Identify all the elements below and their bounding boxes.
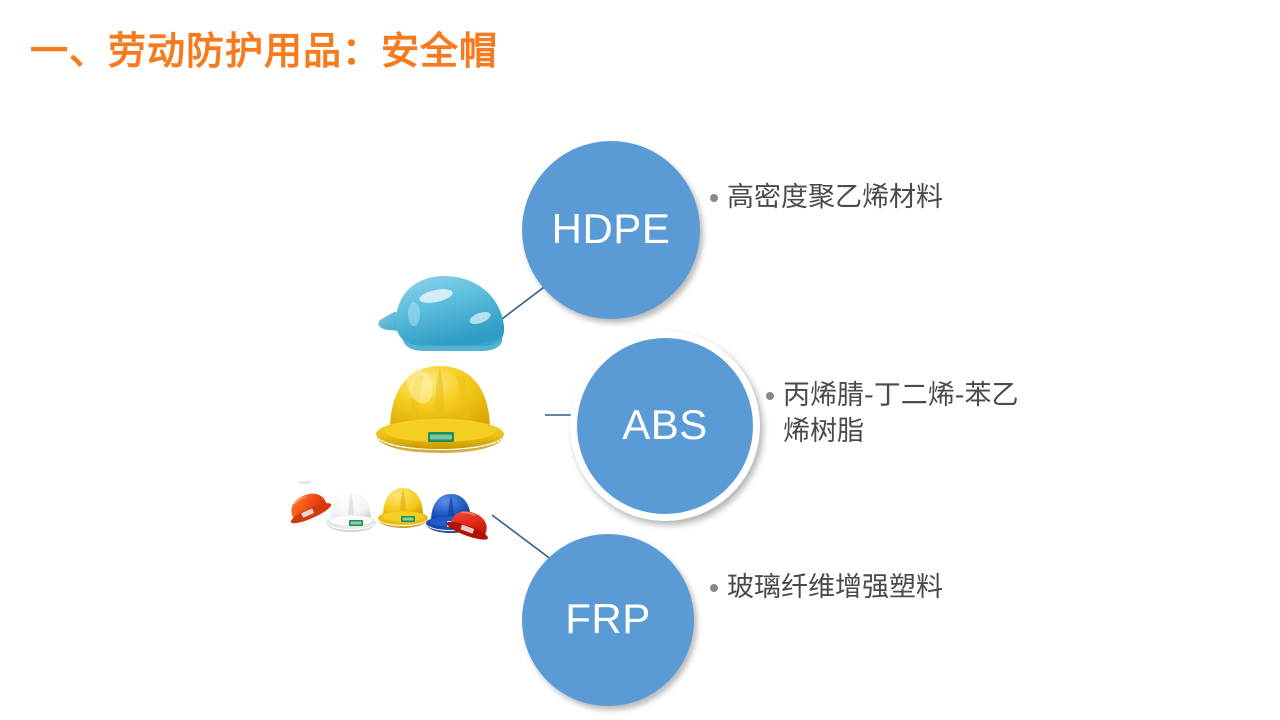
node-circle-frp[interactable]: FRP [522,534,694,706]
diagram-canvas: HDPE ABS FRP 高密度聚乙烯材料 丙烯腈-丁二烯-苯乙烯树脂 玻璃纤维… [0,0,1280,720]
node-circle-hdpe[interactable]: HDPE [522,141,700,319]
light-blue-hard-hat-graphic [374,262,514,362]
node-label-abs: ABS [622,404,708,448]
bullet-text-hdpe: 高密度聚乙烯材料 [727,180,943,216]
node-circle-abs[interactable]: ABS [570,331,760,521]
yellow-hard-hat-image [366,352,514,464]
bullet-dot-icon [766,392,774,400]
multicolor-hard-hat-row-graphic [283,478,495,550]
light-blue-hard-hat-image [374,262,514,362]
multicolor-hard-hat-row-image [283,478,495,550]
bullet-dot-icon [710,194,718,202]
node-label-hdpe: HDPE [552,208,671,252]
connector-line-frp [492,515,552,560]
bullet-item-frp: 玻璃纤维增强塑料 [710,570,980,606]
bullet-dot-icon [710,584,718,592]
bullet-text-abs: 丙烯腈-丁二烯-苯乙烯树脂 [783,378,1033,449]
bullet-item-abs: 丙烯腈-丁二烯-苯乙烯树脂 [766,378,1036,449]
node-label-frp: FRP [565,598,651,642]
bullet-text-frp: 玻璃纤维增强塑料 [727,570,943,606]
yellow-hard-hat-graphic [366,352,514,464]
bullet-item-hdpe: 高密度聚乙烯材料 [710,180,980,216]
